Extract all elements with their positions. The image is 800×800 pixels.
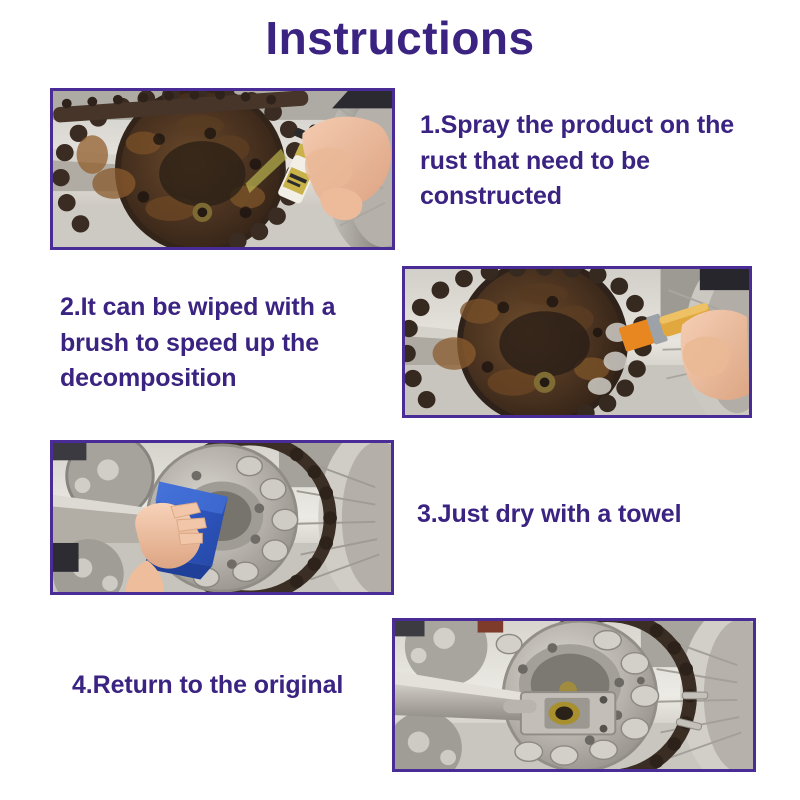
instructions-page: Instructions — [0, 0, 800, 800]
step-4-caption: 4.Return to the original — [72, 668, 402, 704]
step-3-caption: 3.Just dry with a towel — [417, 497, 762, 533]
step-1-photo — [50, 88, 395, 250]
restored-sprocket-illustration — [395, 621, 753, 769]
step-3-photo — [50, 440, 394, 595]
rusty-sprocket-brush-illustration — [405, 269, 749, 415]
rusty-sprocket-spray-illustration — [53, 91, 392, 247]
page-title: Instructions — [0, 14, 800, 62]
step-4-photo — [392, 618, 756, 772]
step-2-photo — [402, 266, 752, 418]
step-2-caption: 2.It can be wiped with a brush to speed … — [60, 290, 400, 397]
towel-wipe-sprocket-illustration — [53, 443, 391, 592]
step-1-caption: 1.Spray the product on the rust that nee… — [420, 108, 770, 215]
